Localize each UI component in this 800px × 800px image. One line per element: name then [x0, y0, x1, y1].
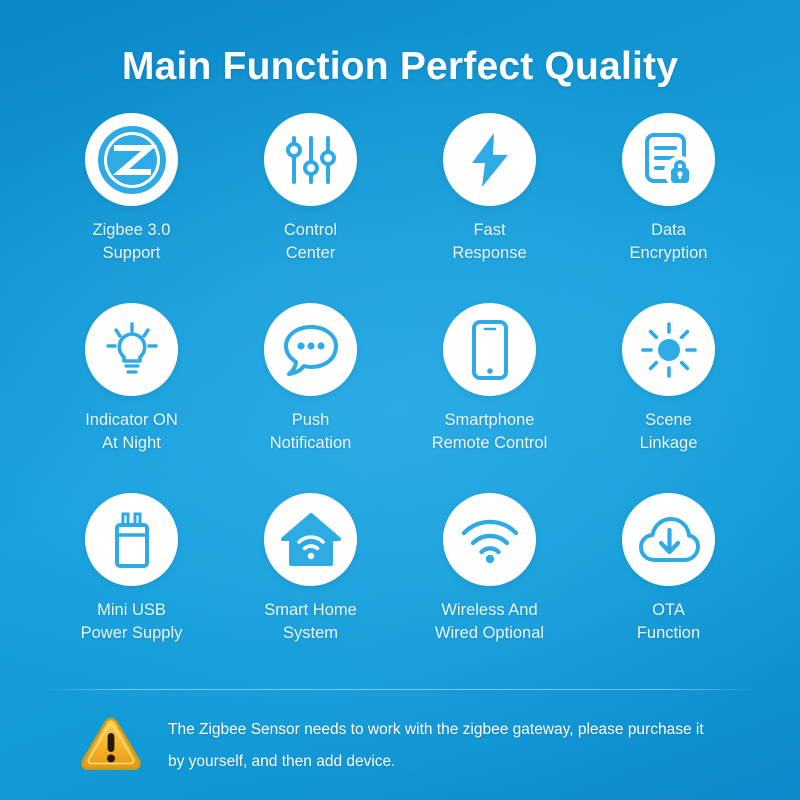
- warning-triangle-icon: [80, 716, 142, 777]
- feature-label: Data Encryption: [630, 219, 708, 266]
- feature-item-scene-linkage: Scene Linkage: [579, 303, 758, 493]
- notice-banner: The Zigbee Sensor needs to work with the…: [0, 714, 800, 778]
- feature-label-line2: Encryption: [630, 242, 708, 265]
- cloud-download-icon: [638, 515, 700, 565]
- feature-item-indicator-on-at-night: Indicator ON At Night: [42, 303, 221, 493]
- feature-label-line2: Support: [93, 242, 171, 265]
- notice-text-line1: The Zigbee Sensor needs to work with the…: [168, 714, 704, 746]
- feature-icon-disc: [622, 303, 715, 396]
- feature-label-line2: Wired Optional: [435, 622, 544, 645]
- control-sliders-icon: [283, 132, 339, 188]
- feature-label-line1: Data: [630, 219, 708, 242]
- feature-icon-disc: [264, 113, 357, 206]
- sun-rays-icon: [640, 321, 698, 379]
- product-feature-page: Main Function Perfect Quality Zigbee 3.0…: [0, 0, 800, 800]
- feature-label: Smartphone Remote Control: [432, 409, 548, 456]
- wifi-signal-icon: [459, 516, 521, 564]
- feature-icon-disc: [85, 113, 178, 206]
- feature-item-ota-function: OTA Function: [579, 493, 758, 683]
- feature-label: Mini USB Power Supply: [81, 599, 183, 646]
- house-wifi-icon: [281, 512, 341, 568]
- feature-label: OTA Function: [637, 599, 700, 646]
- feature-label-line1: Push: [270, 409, 352, 432]
- notice-text: The Zigbee Sensor needs to work with the…: [168, 714, 704, 778]
- feature-label-line2: At Night: [85, 432, 178, 455]
- feature-label-line1: Indicator ON: [85, 409, 178, 432]
- feature-item-mini-usb-power-supply: Mini USB Power Supply: [42, 493, 221, 683]
- feature-label: Fast Response: [452, 219, 526, 266]
- feature-label: Zigbee 3.0 Support: [93, 219, 171, 266]
- feature-item-smart-home-system: Smart Home System: [221, 493, 400, 683]
- light-bulb-icon: [103, 321, 161, 379]
- feature-item-push-notification: Push Notification: [221, 303, 400, 493]
- feature-label: Control Center: [284, 219, 337, 266]
- feature-label: Smart Home System: [264, 599, 357, 646]
- feature-item-smartphone-remote-control: Smartphone Remote Control: [400, 303, 579, 493]
- feature-icon-disc: [85, 303, 178, 396]
- feature-label-line1: OTA: [637, 599, 700, 622]
- feature-item-zigbee-support: Zigbee 3.0 Support: [42, 113, 221, 303]
- feature-item-data-encryption: Data Encryption: [579, 113, 758, 303]
- feature-label-line1: Control: [284, 219, 337, 242]
- feature-label-line1: Zigbee 3.0: [93, 219, 171, 242]
- feature-item-fast-response: Fast Response: [400, 113, 579, 303]
- smartphone-icon: [471, 319, 509, 381]
- zigbee-logo-icon: [97, 125, 167, 195]
- feature-label-line1: Wireless And: [435, 599, 544, 622]
- lightning-bolt-icon: [463, 131, 517, 189]
- feature-label-line2: System: [264, 622, 357, 645]
- feature-icon-disc: [85, 493, 178, 586]
- feature-icon-disc: [622, 113, 715, 206]
- section-divider: [48, 689, 752, 690]
- feature-icon-disc: [264, 303, 357, 396]
- feature-label-line2: Notification: [270, 432, 352, 455]
- feature-icon-disc: [443, 113, 536, 206]
- feature-label-line1: Smartphone: [432, 409, 548, 432]
- feature-label: Wireless And Wired Optional: [435, 599, 544, 646]
- notice-text-line2: by yourself, and then add device.: [168, 746, 704, 778]
- feature-icon-disc: [443, 493, 536, 586]
- feature-grid: Zigbee 3.0 Support: [0, 113, 800, 683]
- feature-label-line2: Response: [452, 242, 526, 265]
- feature-label: Indicator ON At Night: [85, 409, 178, 456]
- feature-label-line1: Fast: [452, 219, 526, 242]
- feature-icon-disc: [264, 493, 357, 586]
- document-lock-icon: [641, 131, 697, 189]
- feature-label: Push Notification: [270, 409, 352, 456]
- feature-label: Scene Linkage: [640, 409, 698, 456]
- feature-item-control-center: Control Center: [221, 113, 400, 303]
- feature-label-line1: Mini USB: [81, 599, 183, 622]
- feature-label-line2: Linkage: [640, 432, 698, 455]
- feature-label-line1: Smart Home: [264, 599, 357, 622]
- feature-label-line2: Function: [637, 622, 700, 645]
- usb-connector-icon: [112, 511, 152, 569]
- feature-label-line2: Center: [284, 242, 337, 265]
- feature-item-wireless-and-wired-optional: Wireless And Wired Optional: [400, 493, 579, 683]
- feature-label-line2: Power Supply: [81, 622, 183, 645]
- feature-icon-disc: [622, 493, 715, 586]
- feature-label-line2: Remote Control: [432, 432, 548, 455]
- page-title: Main Function Perfect Quality: [0, 45, 800, 89]
- feature-label-line1: Scene: [640, 409, 698, 432]
- feature-icon-disc: [443, 303, 536, 396]
- speech-bubble-icon: [282, 323, 340, 377]
